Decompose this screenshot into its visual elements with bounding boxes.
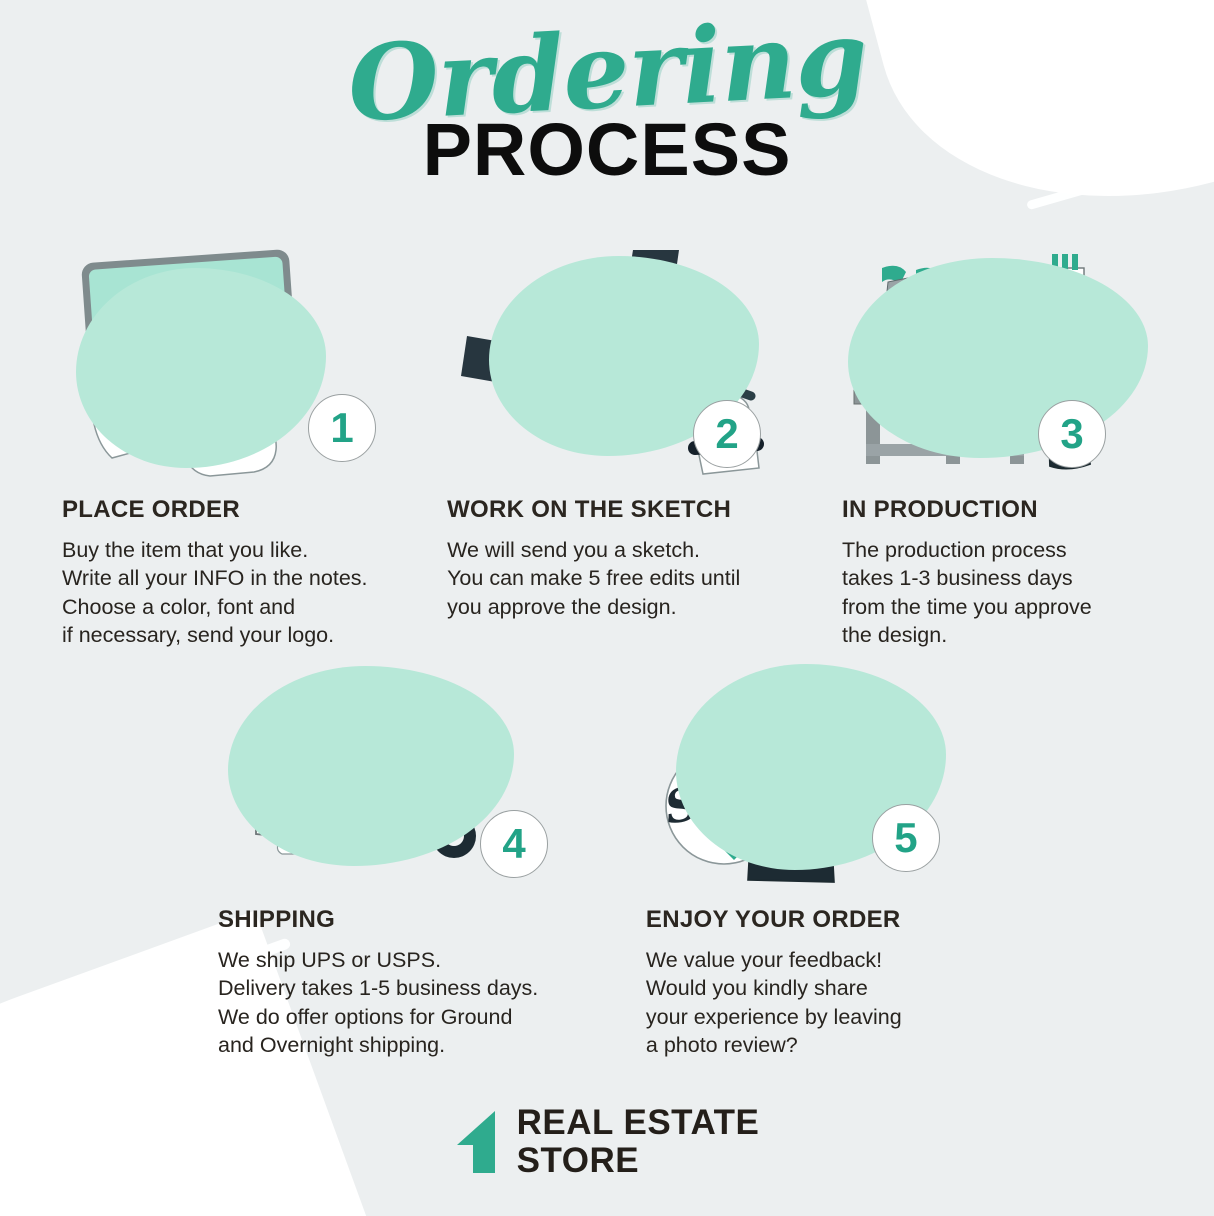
step-number-badge-4: 4 bbox=[480, 810, 548, 878]
steps-row-1: BUY 1 bbox=[62, 248, 1162, 650]
step-body-3: The production process takes 1-3 busines… bbox=[842, 536, 1162, 650]
logo-line-2: STORE bbox=[517, 1142, 760, 1180]
step-3-illustration: 3 bbox=[842, 248, 1162, 480]
step-card-1: BUY 1 bbox=[62, 248, 447, 650]
steps-row-2: 4 SHIPPING We ship UPS or USPS. Delivery… bbox=[218, 658, 1018, 1060]
step-body-4: We ship UPS or USPS. Delivery takes 1-5 … bbox=[218, 946, 646, 1060]
step-5-illustration: Sold 5 bbox=[646, 658, 1018, 890]
house-arrow-icon bbox=[455, 1109, 501, 1175]
step-body-2: We will send you a sketch. You can make … bbox=[447, 536, 842, 621]
step-card-5: Sold 5 ENJOY YOUR ORDER We value your fe… bbox=[646, 658, 1018, 1060]
step-number-badge-3: 3 bbox=[1038, 400, 1106, 468]
step-title-1: PLACE ORDER bbox=[62, 496, 447, 524]
step-4-illustration: 4 bbox=[218, 658, 646, 890]
step-card-3: 3 IN PRODUCTION The production process t… bbox=[842, 248, 1162, 650]
header: Ordering PROCESS bbox=[0, 0, 1214, 187]
step-2-illustration: Sold bbox=[447, 248, 842, 480]
step-card-4: 4 SHIPPING We ship UPS or USPS. Delivery… bbox=[218, 658, 646, 1060]
step-number-badge-1: 1 bbox=[308, 394, 376, 462]
step-number-badge-5: 5 bbox=[872, 804, 940, 872]
logo-wordmark: REAL ESTATE STORE bbox=[517, 1104, 760, 1180]
step-title-3: IN PRODUCTION bbox=[842, 496, 1162, 524]
step-card-2: Sold bbox=[447, 248, 842, 650]
step-title-4: SHIPPING bbox=[218, 906, 646, 934]
infographic-page: Ordering PROCESS bbox=[0, 0, 1214, 1216]
page-title-script: Ordering bbox=[345, 8, 868, 134]
step-number-badge-2: 2 bbox=[693, 400, 761, 468]
step-title-2: WORK ON THE SKETCH bbox=[447, 496, 842, 524]
step-title-5: ENJOY YOUR ORDER bbox=[646, 906, 1018, 934]
footer-logo: REAL ESTATE STORE bbox=[0, 1104, 1214, 1180]
step-body-5: We value your feedback! Would you kindly… bbox=[646, 946, 1018, 1060]
step-body-1: Buy the item that you like. Write all yo… bbox=[62, 536, 447, 650]
step-1-illustration: BUY 1 bbox=[62, 248, 447, 480]
logo-line-1: REAL ESTATE bbox=[517, 1104, 760, 1142]
